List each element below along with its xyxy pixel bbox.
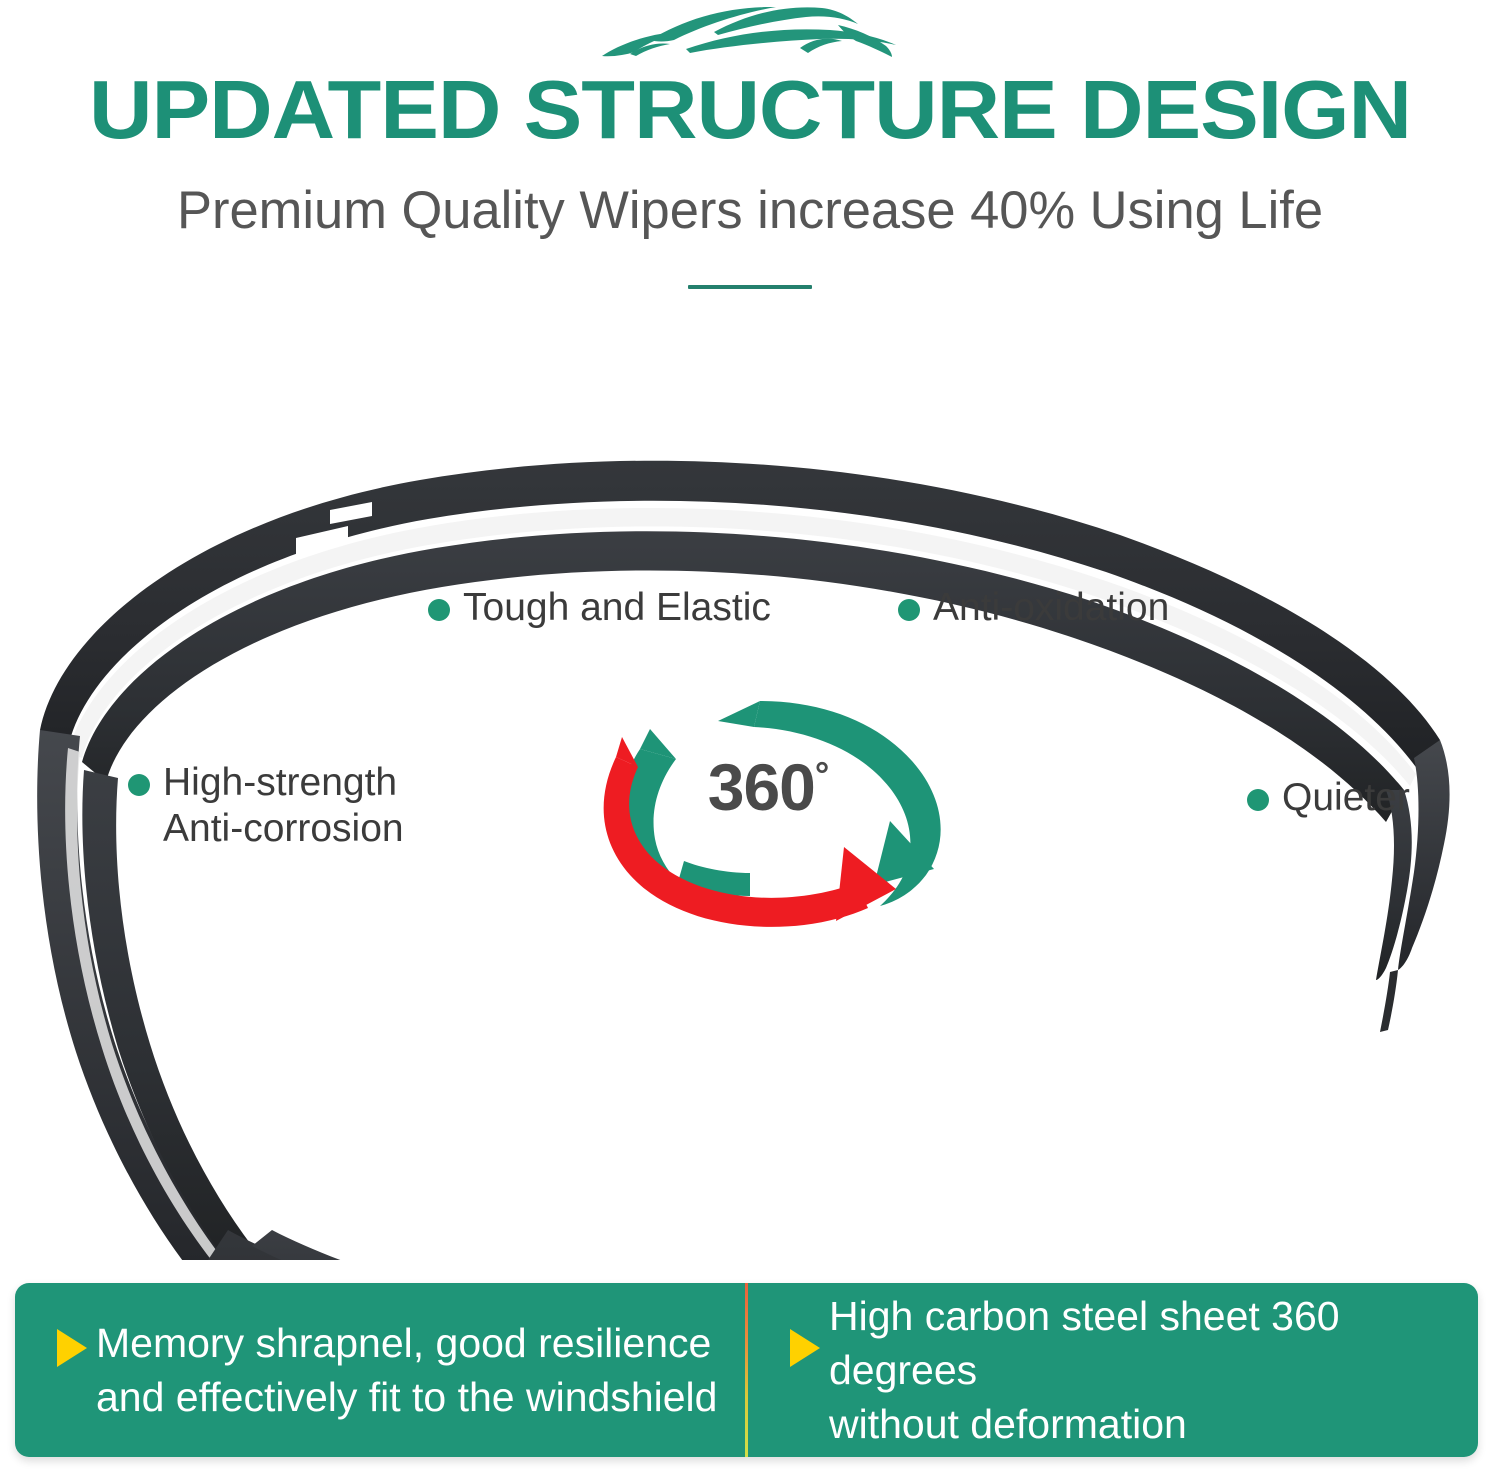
page-title: UPDATED STRUCTURE DESIGN	[0, 62, 1500, 158]
bottom-banner-row: Memory shrapnel, good resilience and eff…	[15, 1283, 1478, 1457]
bullet-dot-icon	[128, 774, 150, 796]
banner-high-carbon-steel: High carbon steel sheet 360 degrees with…	[748, 1283, 1478, 1457]
feature-high-strength-anti-corrosion: High-strength Anti-corrosion	[128, 760, 404, 852]
feature-label: Anti-oxidation	[933, 585, 1169, 631]
bullet-dot-icon	[898, 599, 920, 621]
title-divider	[688, 285, 812, 289]
page-subtitle: Premium Quality Wipers increase 40% Usin…	[8, 178, 1493, 244]
feature-tough-and-elastic: Tough and Elastic	[428, 585, 771, 631]
banner-memory-shrapnel: Memory shrapnel, good resilience and eff…	[15, 1283, 745, 1457]
product-image-area: Tough and Elastic Anti-oxidation High-st…	[0, 300, 1500, 1260]
bullet-dot-icon	[428, 599, 450, 621]
triangle-arrow-icon	[57, 1329, 87, 1367]
banner-text-line2: and effectively fit to the windshield	[96, 1374, 717, 1420]
feature-label-line2: Anti-corrosion	[163, 807, 404, 850]
rotation-360-badge: 360°	[578, 693, 958, 933]
bullet-dot-icon	[1247, 789, 1269, 811]
feature-anti-oxidation: Anti-oxidation	[898, 585, 1169, 631]
car-silhouette-icon	[590, 4, 910, 64]
banner-text-line1: Memory shrapnel, good resilience	[96, 1320, 711, 1366]
badge-number: 360	[708, 750, 815, 824]
feature-label: Quieter	[1282, 775, 1410, 821]
badge-360-value: 360°	[578, 751, 958, 823]
banner-text-line1: High carbon steel sheet 360 degrees	[829, 1293, 1340, 1393]
feature-quieter: Quieter	[1247, 775, 1410, 821]
feature-label-line1: High-strength	[163, 761, 397, 804]
feature-label: Tough and Elastic	[463, 585, 771, 631]
degree-symbol: °	[815, 754, 828, 795]
triangle-arrow-icon	[790, 1329, 820, 1367]
banner-text-line2: without deformation	[829, 1401, 1187, 1447]
header-section: UPDATED STRUCTURE DESIGN Premium Quality…	[0, 0, 1500, 310]
